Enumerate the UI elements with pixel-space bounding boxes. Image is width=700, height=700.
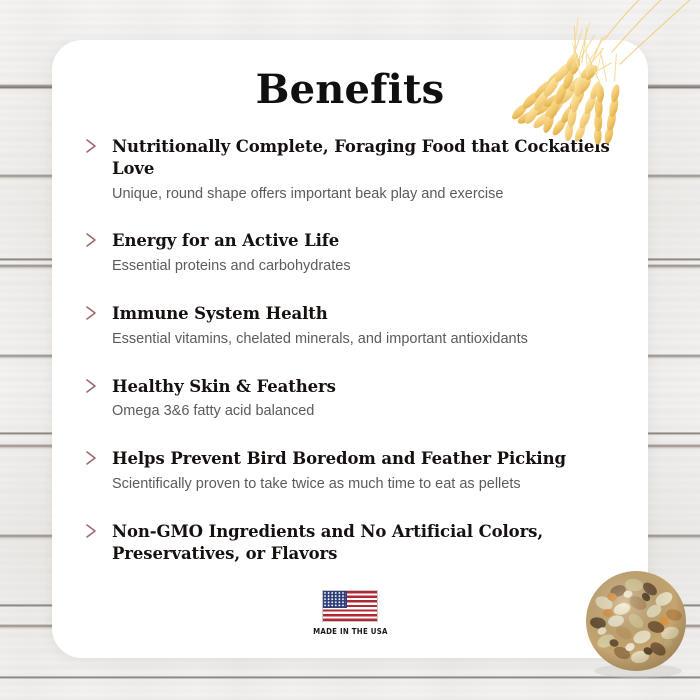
list-item: Non-GMO Ingredients and No Artificial Co…: [82, 521, 628, 565]
list-item: Energy for an Active Life Essential prot…: [82, 230, 628, 276]
benefit-subtitle: Omega 3&6 fatty acid balanced: [112, 402, 628, 421]
made-in-usa-label: MADE IN THE USA: [313, 627, 388, 636]
page-title: Benefits: [52, 66, 648, 113]
flag-stars: [324, 592, 346, 607]
list-item: Healthy Skin & Feathers Omega 3&6 fatty …: [82, 376, 628, 422]
chevron-right-icon: [84, 449, 100, 467]
benefit-subtitle: Scientifically proven to take twice as m…: [112, 475, 628, 494]
benefit-title: Immune System Health: [112, 303, 628, 325]
benefit-title: Non-GMO Ingredients and No Artificial Co…: [112, 521, 552, 565]
promo-graphic: Benefits Nutritionally Complete, Foragin…: [0, 0, 700, 700]
chevron-right-icon: [84, 377, 100, 395]
chevron-right-icon: [84, 304, 100, 322]
benefits-card: Benefits Nutritionally Complete, Foragin…: [52, 40, 648, 658]
list-item: Nutritionally Complete, Foraging Food th…: [82, 136, 628, 203]
plank-seam: [0, 676, 700, 679]
benefit-subtitle: Essential proteins and carbohydrates: [112, 257, 628, 276]
chevron-right-icon: [84, 231, 100, 249]
benefit-subtitle: Unique, round shape offers important bea…: [112, 185, 628, 204]
benefit-subtitle: Essential vitamins, chelated minerals, a…: [112, 330, 628, 349]
benefit-title: Healthy Skin & Feathers: [112, 376, 628, 398]
benefit-title: Helps Prevent Bird Boredom and Feather P…: [112, 448, 628, 470]
benefit-title: Energy for an Active Life: [112, 230, 628, 252]
chevron-right-icon: [84, 137, 100, 155]
made-in-usa-badge: MADE IN THE USA: [52, 590, 648, 636]
chevron-right-icon: [84, 522, 100, 540]
list-item: Immune System Health Essential vitamins,…: [82, 303, 628, 349]
benefits-list: Nutritionally Complete, Foraging Food th…: [82, 136, 628, 569]
benefit-title: Nutritionally Complete, Foraging Food th…: [112, 136, 628, 180]
usa-flag-icon: [322, 590, 378, 622]
list-item: Helps Prevent Bird Boredom and Feather P…: [82, 448, 628, 494]
